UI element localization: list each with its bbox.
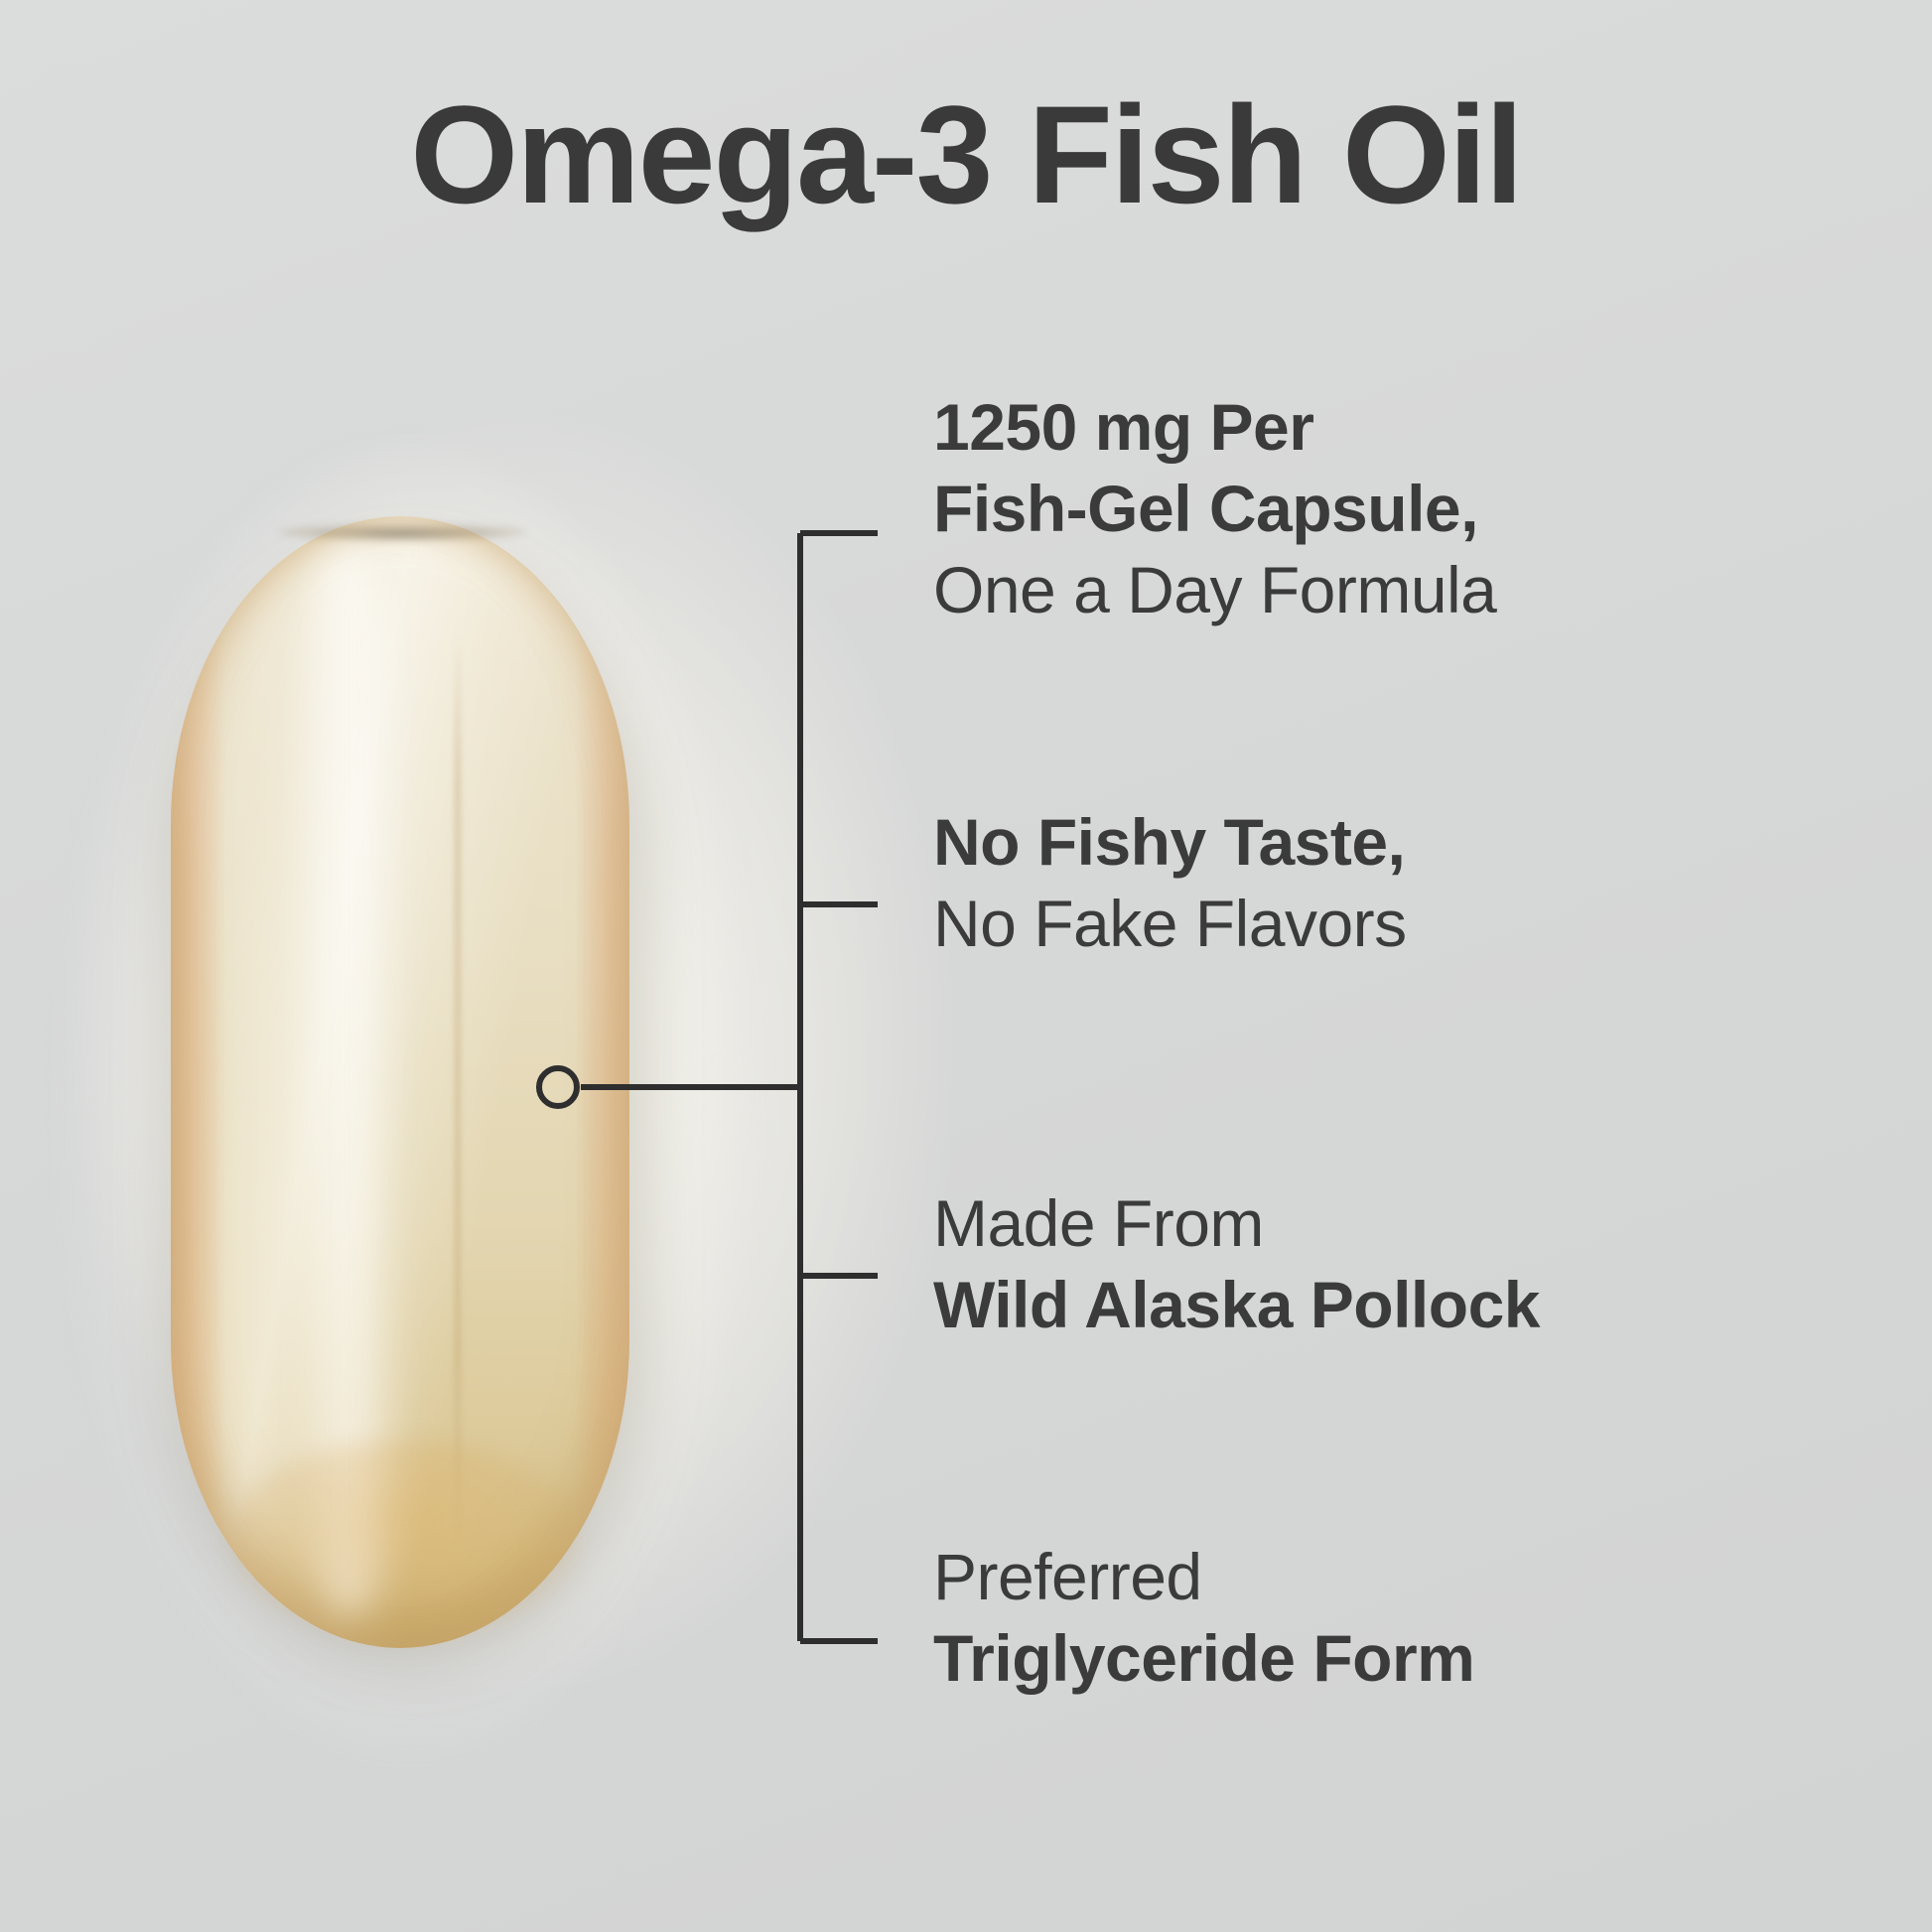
page-title: Omega-3 Fish Oil	[0, 85, 1932, 224]
feature-1-line-1: 1250 mg Per	[933, 387, 1926, 469]
feature-1-line-3: One a Day Formula	[933, 550, 1926, 631]
capsule-crease-line	[455, 635, 461, 1549]
feature-1-line-2: Fish-Gel Capsule,	[933, 469, 1926, 550]
feature-2-line-2: No Fake Flavors	[933, 884, 1926, 965]
capsule-top-seam	[278, 524, 526, 540]
feature-block-2: No Fishy Taste, No Fake Flavors	[933, 802, 1926, 965]
feature-block-1: 1250 mg Per Fish-Gel Capsule, One a Day …	[933, 387, 1926, 630]
feature-2-line-1: No Fishy Taste,	[933, 802, 1926, 884]
feature-3-line-1: Made From	[933, 1183, 1926, 1265]
capsule-image	[149, 516, 655, 1668]
product-infographic: Omega-3 Fish Oil 1250 mg Per Fish-Gel C	[0, 0, 1932, 1932]
feature-block-3: Made From Wild Alaska Pollock	[933, 1183, 1926, 1346]
feature-3-line-2: Wild Alaska Pollock	[933, 1265, 1926, 1346]
feature-4-line-2: Triglyceride Form	[933, 1618, 1926, 1700]
feature-block-4: Preferred Triglyceride Form	[933, 1537, 1926, 1700]
feature-4-line-1: Preferred	[933, 1537, 1926, 1618]
capsule-bottom-glow	[230, 1440, 578, 1638]
softgel-capsule	[171, 516, 629, 1648]
